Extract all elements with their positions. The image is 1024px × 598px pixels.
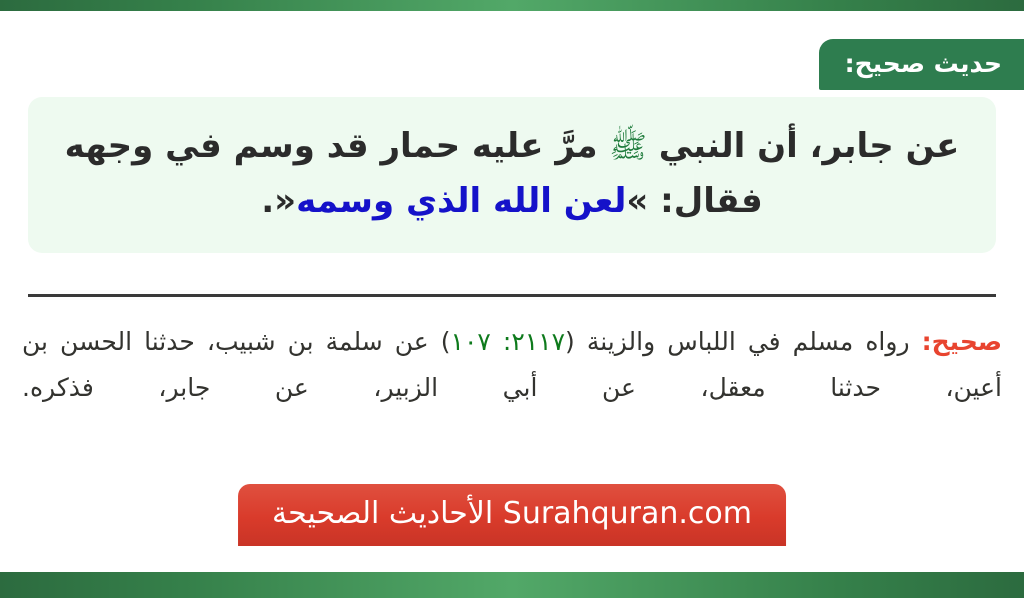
- hadith-text: عن جابر، أن النبي ﷺ مرَّ عليه حمار قد وس…: [54, 119, 970, 229]
- takhrij-text: صحيح: رواه مسلم في اللباس والزينة (٢١١٧:…: [22, 319, 1002, 410]
- hadith-line1-suffix: مرَّ عليه حمار قد وسم: [234, 126, 598, 166]
- site-title: الأحاديث الصحيحة: [272, 496, 493, 531]
- hadith-line1-prefix: عن جابر، أن النبي: [659, 126, 960, 166]
- salutation-icon: ﷺ: [609, 129, 646, 165]
- content-stage: حديث صحيح: عن جابر، أن النبي ﷺ مرَّ عليه…: [0, 11, 1024, 572]
- site-domain: Surahquran.com: [503, 496, 752, 531]
- hadith-panel: عن جابر، أن النبي ﷺ مرَّ عليه حمار قد وس…: [28, 97, 996, 253]
- bottom-decorative-bar: [0, 572, 1024, 598]
- hadith-grade-label: حديث صحيح:: [819, 39, 1024, 90]
- takhrij-grade: صحيح:: [922, 327, 1002, 356]
- takhrij-reference-number: ٢١١٧: ١٠٧: [451, 327, 566, 356]
- site-badge[interactable]: Surahquran.com الأحاديث الصحيحة: [238, 484, 786, 546]
- hadith-line2-suffix: «.: [261, 181, 296, 221]
- hadith-quoted-saying: لعن الله الذي وسمه: [296, 181, 626, 221]
- section-divider: [28, 294, 996, 297]
- top-decorative-bar: [0, 0, 1024, 11]
- takhrij-source-before: رواه مسلم في اللباس والزينة (: [565, 327, 909, 356]
